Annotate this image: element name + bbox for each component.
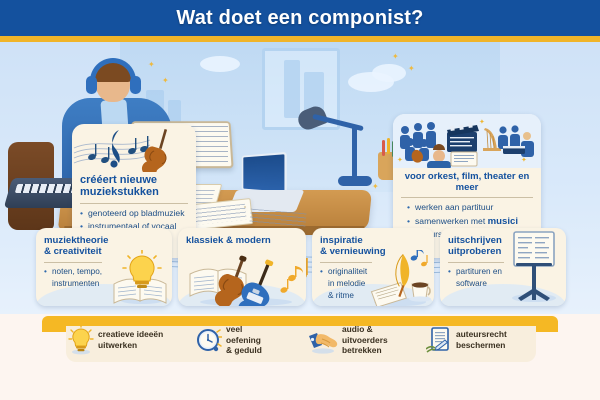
desk-lamp-base (338, 176, 372, 186)
sparkle-icon: ✦ (372, 182, 379, 191)
lightbulb-open-book-icon (108, 250, 170, 306)
list-item: werken aan partituur (407, 201, 533, 214)
violin-sheet-music-icon (72, 124, 196, 172)
laptop-screen-icon (242, 152, 287, 194)
strip-item-label: audio & uitvoerders betrekken (342, 324, 388, 356)
strip-item-practice-patience[interactable]: veel oefening & geduld (194, 324, 306, 356)
strip-item-audio-performers[interactable]: audio & uitvoerders betrekken (306, 324, 424, 356)
feature-card-title: uitschrijven uitproberen (440, 228, 566, 258)
sparkle-icon: ✦ (162, 76, 169, 85)
feature-card-music-theory[interactable]: muziektheorie & creativiteit noten, temp… (36, 228, 172, 306)
svg-text:✦: ✦ (521, 156, 527, 164)
pencil-icon (382, 140, 385, 156)
feature-card-title: inspiratie & vernieuwing (312, 228, 434, 258)
strip-item-label: veel oefening & geduld (226, 324, 262, 356)
headphone-cup-right (130, 76, 141, 94)
strip-item-label: creatieve ideeën uitwerken (98, 329, 163, 351)
list-item: originaliteit in melodie & ritme (320, 266, 370, 303)
feature-card-title: muziektheorie & creativiteit (36, 228, 172, 258)
bottom-strip-items: creatieve ideeën uitwerken veel oefen (66, 318, 536, 362)
sparkle-icon: ✦ (392, 52, 399, 61)
strip-item-copyright-protect[interactable]: auteursrecht beschermen (424, 325, 536, 355)
desk-lamp-stem (352, 126, 357, 178)
svg-text:✦: ✦ (479, 118, 485, 126)
card-left-heading: crééert nieuwe muziekstukken (72, 168, 196, 199)
document-pen-icon (426, 325, 452, 355)
cloud-shape (372, 64, 406, 82)
quill-coffee-icon (370, 250, 432, 306)
orchestra-film-theatre-icon: ✦✦✦ (393, 114, 541, 168)
strip-item-creative-ideas[interactable]: creatieve ideeën uitwerken (66, 325, 194, 355)
feature-card-bullets: originaliteit in melodie & ritme (312, 266, 378, 306)
pencil-icon (387, 138, 390, 154)
violin-electric-guitar-icon (188, 250, 306, 306)
svg-text:✦: ✦ (397, 156, 403, 164)
feature-card-bullets: partituren en software (440, 266, 510, 297)
feature-card-divider (448, 262, 504, 263)
feature-card-divider (320, 262, 372, 263)
sparkle-icon: ✦ (148, 60, 155, 69)
clock-icon (196, 325, 222, 355)
card-right-divider (401, 197, 533, 198)
headphone-cup-left (86, 76, 97, 94)
feature-card-title: klassiek & modern (178, 228, 306, 246)
sparkle-icon: ✦ (408, 64, 415, 73)
list-item: noten, tempo, instrumenten (44, 266, 104, 291)
list-item: partituren en software (448, 266, 502, 291)
lightbulb-icon (68, 325, 94, 355)
page-title: Wat doet een componist? (176, 7, 423, 30)
card-left-divider (80, 203, 188, 204)
feature-card-inspiration[interactable]: inspiratie & vernieuwing originaliteit i… (312, 228, 434, 306)
bold-word: musici (488, 216, 518, 227)
skyline-shape (284, 60, 300, 118)
strip-item-label: auteursrecht beschermen (456, 329, 507, 351)
infographic-root: Wat doet een componist? (0, 0, 600, 400)
card-right-heading-text: voor orkest, film, theater en meer (405, 171, 530, 193)
card-right-heading: voor orkest, film, theater en meer (393, 168, 541, 193)
handshake-icon (308, 325, 338, 355)
feature-card-write-out[interactable]: uitschrijven uitproberen partituren en s… (440, 228, 566, 306)
feature-card-classic-modern[interactable]: klassiek & modern (178, 228, 306, 306)
header-bar: Wat doet een componist? (0, 0, 600, 36)
sheet-music-page (244, 206, 246, 208)
list-item: genoteerd op bladmuziek (80, 207, 188, 220)
feature-card-divider (44, 262, 102, 263)
feature-card-bullets: noten, tempo, instrumenten (36, 266, 112, 297)
cloud-shape (200, 56, 240, 72)
